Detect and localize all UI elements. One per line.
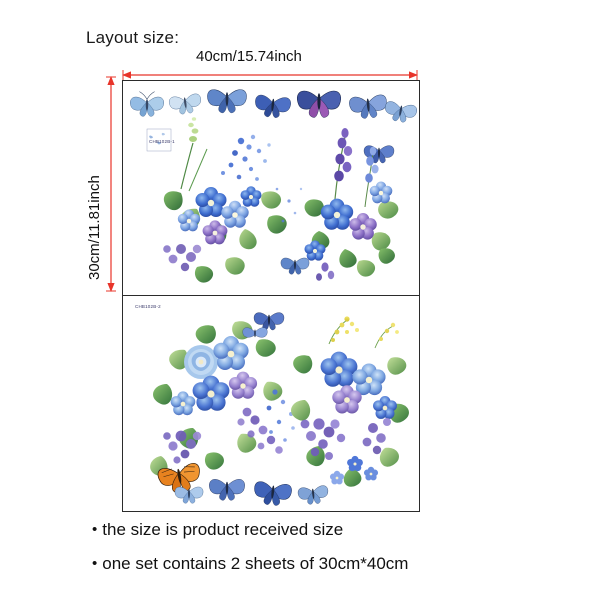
butterfly-icon xyxy=(281,258,309,274)
butterfly-icon xyxy=(209,479,244,500)
butterfly-icon xyxy=(253,481,292,507)
flower-cluster xyxy=(221,135,271,181)
butterfly-icon xyxy=(207,90,246,113)
product-size-infographic: Layout size: 40cm/15.74inch 30cm/11.81in… xyxy=(0,0,606,606)
width-dimension-arrow xyxy=(122,70,418,80)
yellow-sprig xyxy=(375,323,399,348)
height-dimension-arrow xyxy=(106,76,116,292)
page-title: Layout size: xyxy=(86,28,179,48)
hydrangea-cluster xyxy=(163,431,201,464)
flower xyxy=(193,376,230,411)
flower xyxy=(321,352,358,387)
flower-spike xyxy=(334,128,352,199)
bullet-text: one set contains 2 sheets of 30cm*40cm xyxy=(102,554,408,574)
flower xyxy=(171,391,196,415)
flower xyxy=(229,372,257,399)
butterfly-icon xyxy=(297,91,340,117)
list-item: • one set contains 2 sheets of 30cm*40cm xyxy=(92,554,552,574)
width-dimension-label: 40cm/15.74inch xyxy=(196,48,302,65)
butterfly-icon xyxy=(243,328,268,338)
butterfly-icon xyxy=(383,101,417,125)
sheet-2-artwork xyxy=(123,296,419,511)
bullet-text: the size is product received size xyxy=(102,520,343,540)
flower xyxy=(373,396,397,419)
butterfly-icon xyxy=(169,93,203,116)
butterfly-icon xyxy=(349,94,388,119)
flower xyxy=(352,363,385,395)
bullet-dot: • xyxy=(92,554,97,574)
flower xyxy=(213,336,248,370)
butterfly-icon xyxy=(254,95,291,120)
hydrangea-cluster xyxy=(163,244,201,271)
sheet-1-artwork xyxy=(123,81,419,296)
sticker-sheet-2: CHB102B-2 xyxy=(122,295,420,512)
sticker-sheet-1: CHB102B-1 xyxy=(122,80,420,297)
sheet-code-1: CHB102B-1 xyxy=(149,139,175,144)
butterfly-icon xyxy=(175,487,203,503)
bullet-list: • the size is product received size • on… xyxy=(92,520,552,588)
flower xyxy=(184,345,218,379)
butterfly-icon xyxy=(254,313,284,330)
bullet-dot: • xyxy=(92,520,97,540)
sheet-code-2: CHB102B-2 xyxy=(135,304,161,309)
yellow-sprig xyxy=(329,316,359,344)
list-item: • the size is product received size xyxy=(92,520,552,540)
height-dimension-label: 30cm/11.81inch xyxy=(86,262,103,280)
butterfly-icon xyxy=(130,92,163,117)
butterfly-icon xyxy=(298,485,330,505)
